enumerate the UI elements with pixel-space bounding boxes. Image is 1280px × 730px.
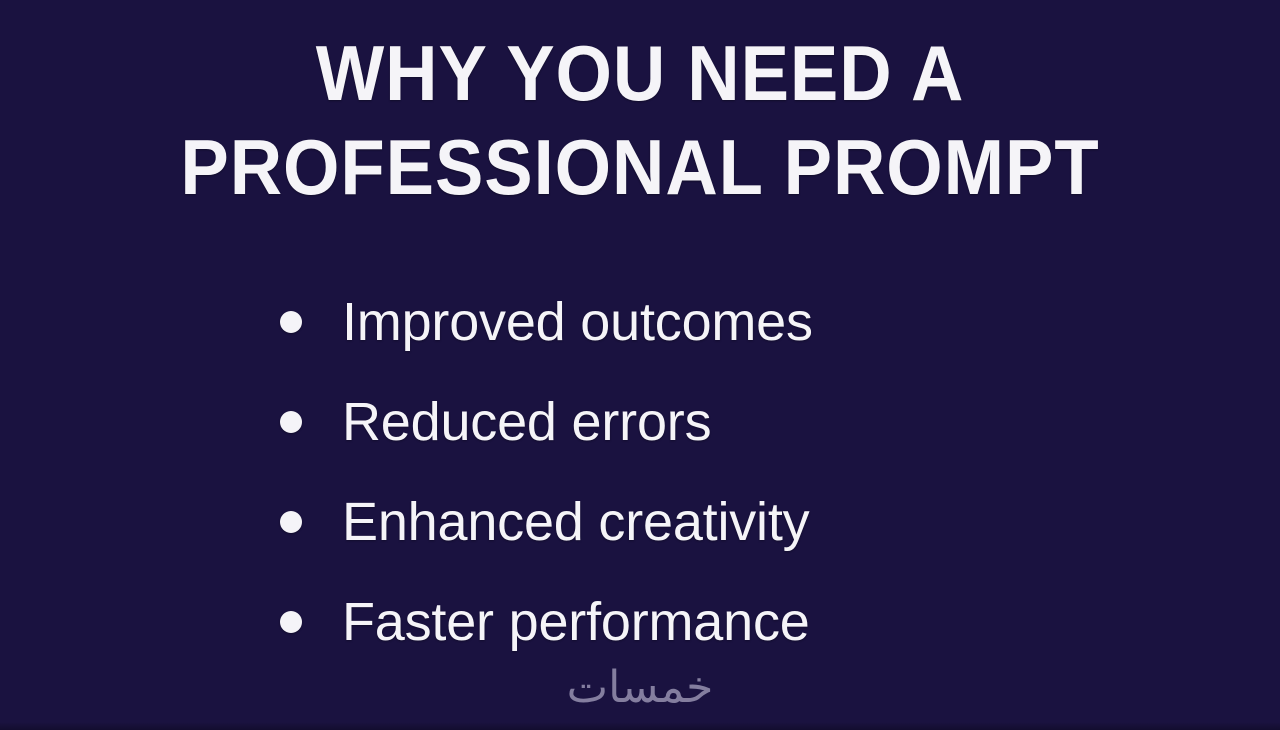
bullet-dot-icon xyxy=(280,511,302,533)
list-item-label: Enhanced creativity xyxy=(342,493,809,551)
list-item: Reduced errors xyxy=(280,372,1040,472)
bottom-edge-shading xyxy=(0,722,1280,730)
list-item: Faster performance xyxy=(280,572,1040,672)
slide-canvas: WHY YOU NEED A PROFESSIONAL PROMPT Impro… xyxy=(0,0,1280,730)
list-item-label: Faster performance xyxy=(342,593,810,651)
benefits-list: Improved outcomes Reduced errors Enhance… xyxy=(280,272,1040,672)
bullet-dot-icon xyxy=(280,311,302,333)
list-item-label: Reduced errors xyxy=(342,393,711,451)
list-item-label: Improved outcomes xyxy=(342,293,813,351)
bullet-dot-icon xyxy=(280,611,302,633)
title-line-2: PROFESSIONAL PROMPT xyxy=(45,120,1235,214)
bullet-dot-icon xyxy=(280,411,302,433)
title-line-1: WHY YOU NEED A xyxy=(45,26,1235,120)
list-item: Improved outcomes xyxy=(280,272,1040,372)
page-title: WHY YOU NEED A PROFESSIONAL PROMPT xyxy=(0,26,1280,214)
list-item: Enhanced creativity xyxy=(280,472,1040,572)
